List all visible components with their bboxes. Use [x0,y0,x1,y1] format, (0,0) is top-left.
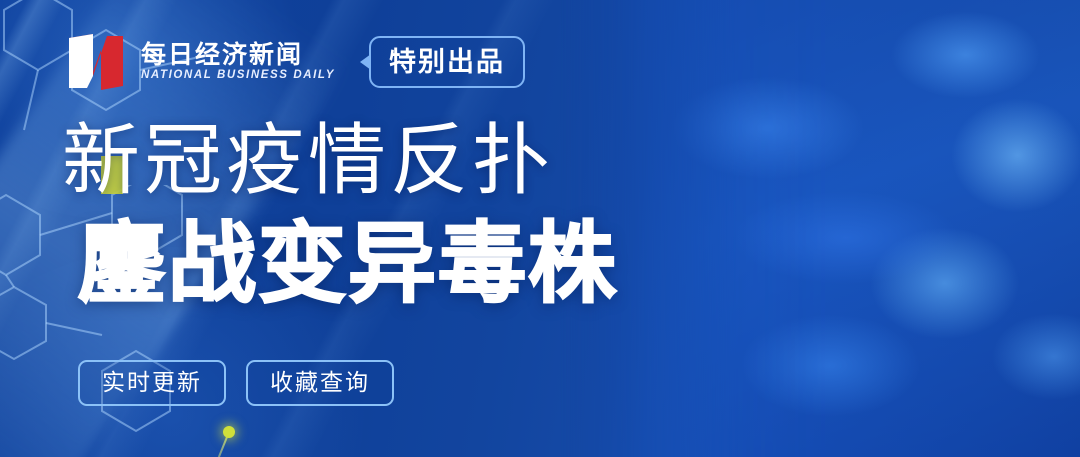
cta-button-row: 实时更新 收藏查询 [78,360,394,406]
brand-name-cn: 每日经济新闻 [141,42,335,67]
promo-banner: 每日经济新闻 NATIONAL BUSINESS DAILY 特别出品 新冠疫情… [0,0,1080,457]
special-edition-badge: 特别出品 [369,36,525,88]
headline-line-2: 鏖战变异毒株 [78,220,618,308]
brand-logo: 每日经济新闻 NATIONAL BUSINESS DAILY [63,30,335,94]
badge-label: 特别出品 [389,49,505,76]
nbd-n-monogram-icon [63,30,129,94]
brand-name-en: NATIONAL BUSINESS DAILY [141,70,335,82]
badge-pointer-icon [360,54,371,70]
realtime-update-label: 实时更新 [102,372,202,395]
headline-block: 新冠疫情反扑 鏖战变异毒株 [62,122,618,308]
bookmark-query-label: 收藏查询 [270,372,370,395]
bookmark-query-button[interactable]: 收藏查询 [246,360,394,406]
virus-microscopy-image [560,0,1080,457]
yellow-node-dot [223,426,235,438]
banner-header: 每日经济新闻 NATIONAL BUSINESS DAILY 特别出品 [63,30,525,94]
realtime-update-button[interactable]: 实时更新 [78,360,226,406]
headline-line-1: 新冠疫情反扑 [62,122,618,200]
brand-text: 每日经济新闻 NATIONAL BUSINESS DAILY [141,42,335,82]
